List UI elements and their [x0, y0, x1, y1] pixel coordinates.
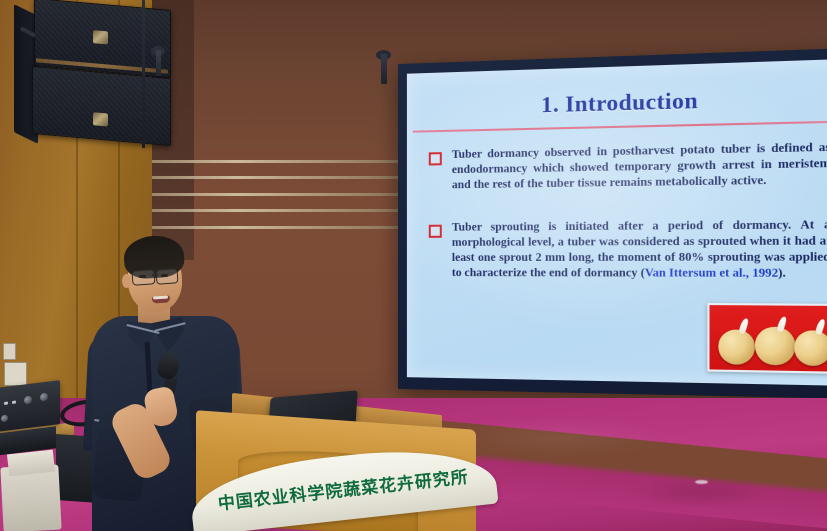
wall-switch-plate: [4, 362, 27, 386]
presentation-room-photo: 1. Introduction Tuber dormancy observed …: [0, 0, 827, 531]
projection-screen-frame: 1. Introduction Tuber dormancy observed …: [398, 48, 827, 399]
line-array-speaker-bottom: [32, 66, 171, 146]
slide-bullet-2: Tuber sprouting is initiated after a per…: [429, 217, 827, 282]
speaker-brand-logo: [93, 30, 108, 44]
slide-bullet-1-text: Tuber dormancy observed in postharvest p…: [452, 139, 827, 193]
projection-screen: 1. Introduction Tuber dormancy observed …: [407, 59, 827, 386]
bullet-square-icon: [429, 152, 442, 165]
sprouted-potato-tubers-photo: [707, 303, 827, 374]
slide-title-rule: [413, 121, 827, 133]
wall-outlet: [3, 343, 16, 360]
slide-citation: Van Ittersum et al., 1992: [645, 266, 778, 280]
slide-bullet-2-text: Tuber sprouting is initiated after a per…: [452, 217, 827, 282]
ceiling-speaker-array: [14, 4, 184, 154]
slide-title: 1. Introduction: [407, 83, 827, 122]
ear: [122, 274, 131, 288]
bullet-square-icon: [429, 225, 442, 238]
speaker-mount-post: [156, 50, 161, 76]
floor-reflection: [695, 480, 708, 484]
speaker-brand-logo: [93, 112, 108, 126]
audio-amplifier-rack: [0, 380, 60, 432]
slide-bullet-2-tail: ).: [778, 266, 786, 280]
slide-bullet-1: Tuber dormancy observed in postharvest p…: [429, 139, 827, 193]
screen-mount-post: [381, 54, 387, 84]
